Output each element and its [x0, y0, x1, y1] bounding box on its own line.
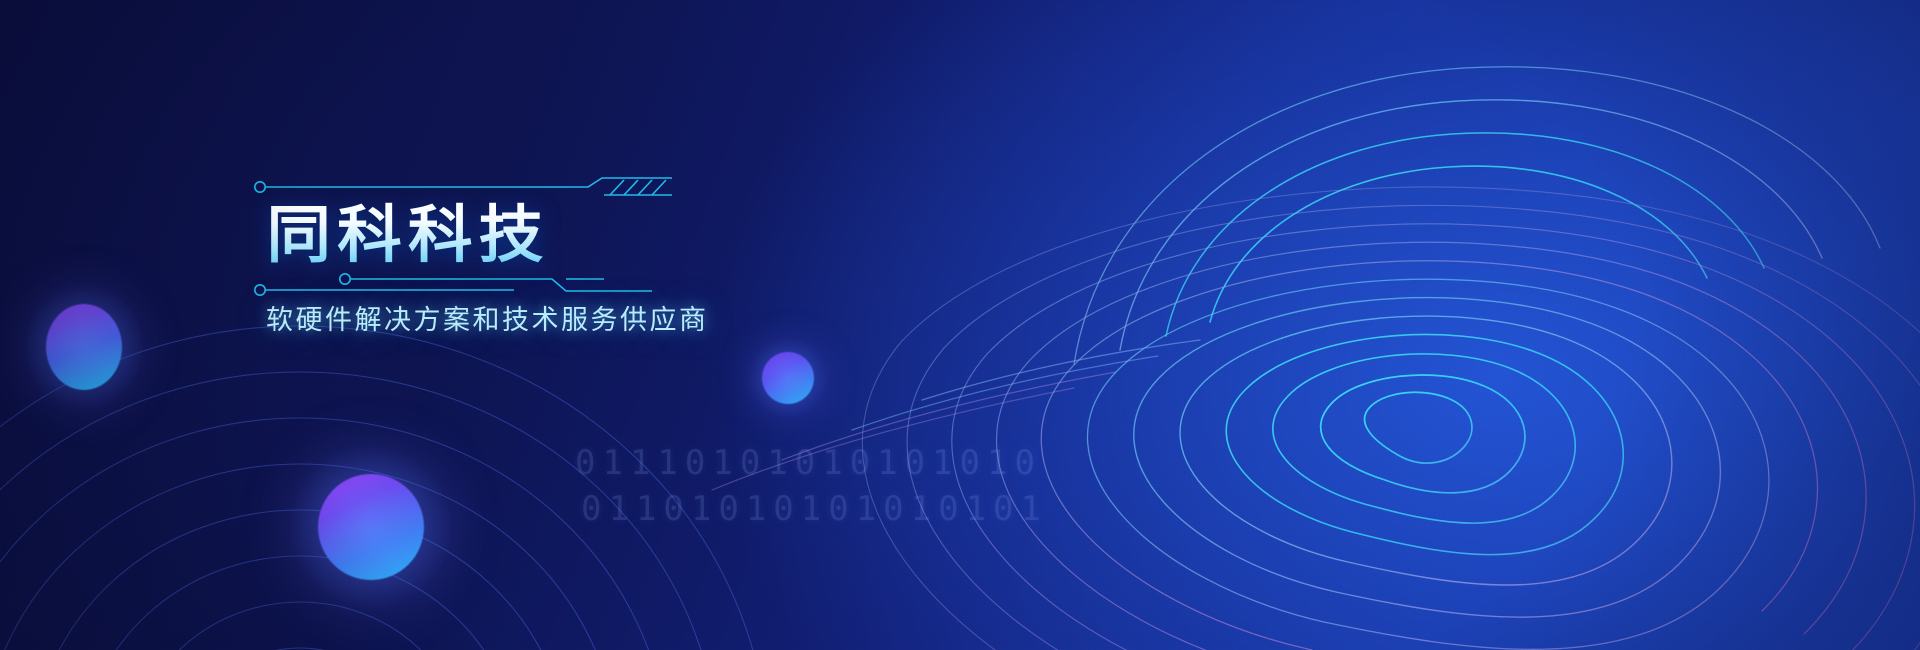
- glow-orb-left: [46, 304, 122, 390]
- hero-banner: 01110101010101010 01101010101010101 同科科技: [0, 0, 1920, 650]
- binary-line-1: 01110101010101010: [575, 440, 1048, 486]
- brand-decoration-line-bottom: [252, 272, 872, 298]
- glow-orb-bottom: [318, 474, 424, 580]
- page-title: 同科科技: [252, 198, 897, 272]
- brand-logo-block: 同科科技: [252, 176, 872, 298]
- brand-decoration-line-top: [252, 176, 872, 198]
- binary-watermark: 01110101010101010 01101010101010101: [575, 440, 1048, 532]
- binary-line-2: 01101010101010101: [581, 486, 1048, 532]
- glow-orb-center: [762, 352, 814, 404]
- page-subtitle: 软硬件解决方案和技术服务供应商: [266, 300, 709, 340]
